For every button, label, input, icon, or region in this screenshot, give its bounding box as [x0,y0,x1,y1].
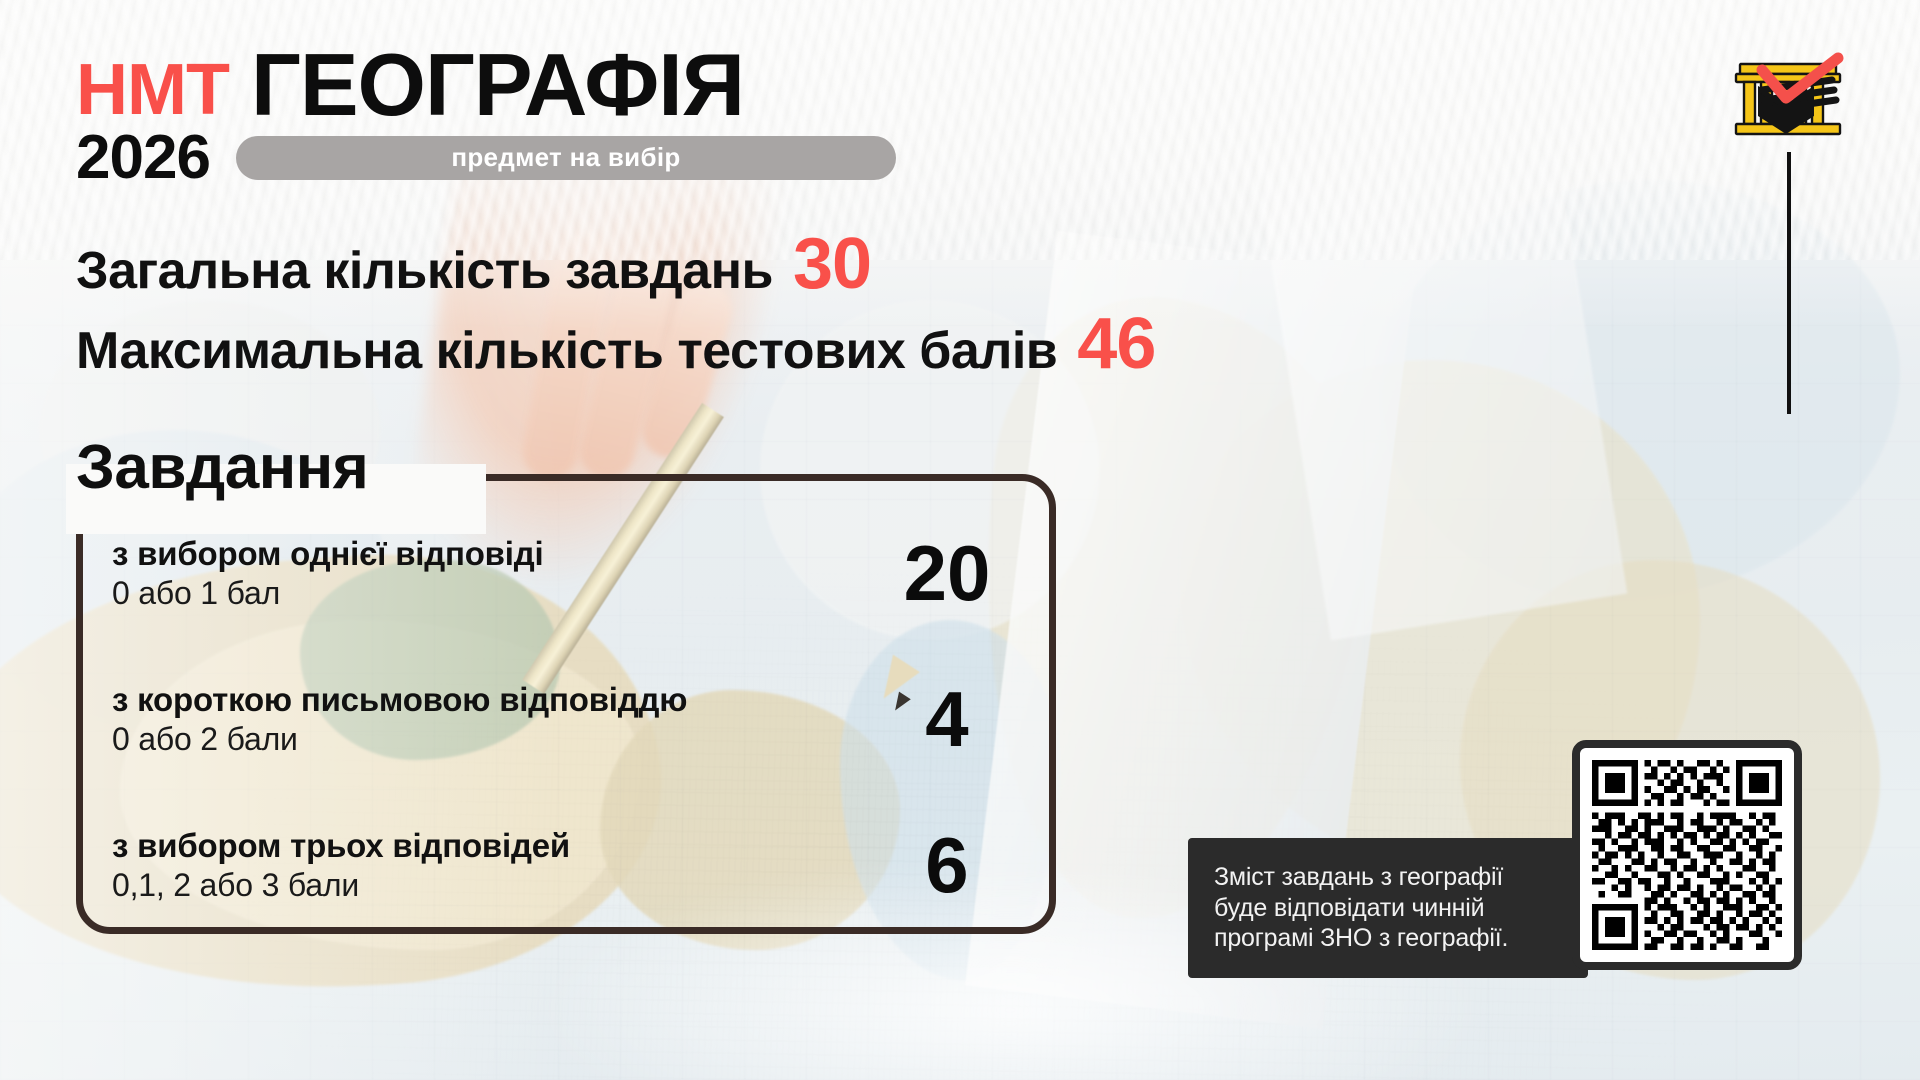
uceqa-logo-icon [1728,42,1848,138]
stat-value: 30 [793,228,871,300]
task-scoring: 0 або 2 бали [112,721,687,758]
stat-label: Максимальна кількість тестових балів [76,321,1057,382]
logo-divider-line [1787,152,1791,414]
task-title: з вибором однієї відповіді [112,535,543,573]
stat-row: Максимальна кількість тестових балів 46 [76,308,1155,382]
task-title: з короткою письмовою відповіддю [112,681,687,719]
stat-label: Загальна кількість завдань [76,241,773,302]
task-row: з короткою письмовою відповіддю 0 або 2 … [112,658,1032,780]
task-scoring: 0 або 1 бал [112,575,543,612]
task-count: 4 [862,680,1032,758]
stat-value: 46 [1077,308,1155,380]
subject-title: ГЕОГРАФІЯ [251,48,744,122]
note-line-1: Зміст завдань з географії [1214,863,1503,891]
task-row: з вибором однієї відповіді 0 або 1 бал 2… [112,512,1032,634]
stat-row: Загальна кількість завдань 30 [76,228,1155,302]
task-count: 6 [862,826,1032,904]
header: НМТ ГЕОГРАФІЯ 2026 предмет на вибір [76,48,896,186]
note-line-2: буде відповідати чинній [1214,894,1484,922]
exam-year: 2026 [76,130,210,186]
task-count: 20 [862,534,1032,612]
tasks-list: з вибором однієї відповіді 0 або 1 бал 2… [112,512,1032,926]
elective-badge-label: предмет на вибір [451,142,680,173]
infographic-poster: НМТ ГЕОГРАФІЯ 2026 предмет на вибір Зага… [0,0,1920,1080]
task-scoring: 0,1, 2 або 3 бали [112,867,570,904]
task-row: з вибором трьох відповідей 0,1, 2 або 3 … [112,804,1032,926]
qr-code-icon[interactable] [1572,740,1802,970]
elective-badge: предмет на вибір [236,136,896,180]
task-title: з вибором трьох відповідей [112,827,570,865]
exam-code: НМТ [76,60,229,122]
tasks-heading: Завдання [76,432,368,503]
note-box: Зміст завдань з географії буде відповіда… [1188,838,1588,978]
summary-stats: Загальна кількість завдань 30 Максимальн… [76,228,1155,389]
note-line-3: програмі ЗНО з географії. [1214,924,1508,952]
